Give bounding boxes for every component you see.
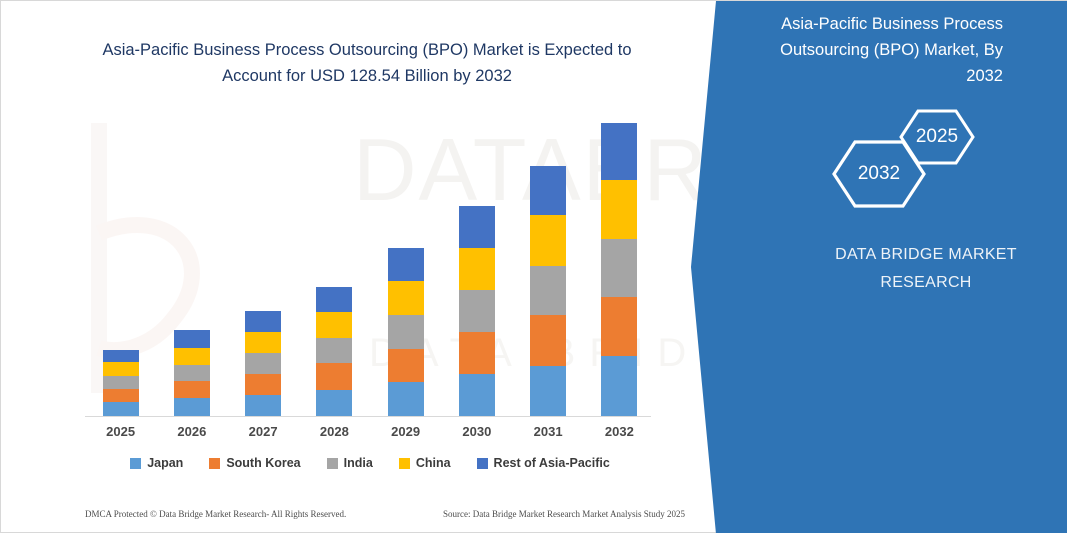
bar-segment: [601, 123, 637, 181]
bar-segment: [174, 381, 210, 398]
footer-copyright: DMCA Protected © Data Bridge Market Rese…: [85, 509, 346, 519]
bar-segment: [388, 315, 424, 349]
hexagon-badge-2025: 2025: [898, 108, 976, 166]
bar-stack-2028: [316, 287, 352, 416]
hexagon-2025-label: 2025: [916, 126, 958, 148]
bar-chart-plot-area: [85, 111, 655, 416]
legend-swatch-icon: [130, 458, 141, 469]
bar-column: [588, 111, 650, 416]
bar-segment: [174, 365, 210, 382]
bar-column: [232, 111, 294, 416]
bar-column: [161, 111, 223, 416]
bar-segment: [530, 315, 566, 365]
bar-segment: [459, 374, 495, 416]
bar-segment: [316, 312, 352, 338]
legend-swatch-icon: [399, 458, 410, 469]
legend-item[interactable]: India: [327, 456, 373, 470]
bar-segment: [103, 376, 139, 389]
bar-column: [446, 111, 508, 416]
bar-segment: [245, 395, 281, 416]
hexagon-2032-label: 2032: [858, 163, 900, 185]
legend-label: China: [416, 456, 451, 470]
bar-stack-2031: [530, 166, 566, 416]
bar-stack-2026: [174, 330, 210, 416]
legend-label: India: [344, 456, 373, 470]
x-axis-label-2032: 2032: [588, 424, 650, 439]
x-axis-label-2029: 2029: [375, 424, 437, 439]
bar-segment: [601, 180, 637, 239]
legend-item[interactable]: Japan: [130, 456, 183, 470]
bar-segment: [530, 266, 566, 315]
footer: DMCA Protected © Data Bridge Market Rese…: [85, 509, 685, 519]
x-axis-line: [85, 416, 651, 417]
bar-segment: [174, 398, 210, 416]
legend-item[interactable]: South Korea: [209, 456, 300, 470]
bar-segment: [530, 215, 566, 265]
legend-item[interactable]: China: [399, 456, 451, 470]
bar-column: [517, 111, 579, 416]
bar-segment: [103, 389, 139, 403]
x-axis-label-2030: 2030: [446, 424, 508, 439]
bar-segment: [459, 206, 495, 248]
bar-segment: [388, 349, 424, 383]
x-axis-label-2031: 2031: [517, 424, 579, 439]
bar-segment: [316, 338, 352, 363]
bar-segment: [388, 382, 424, 416]
legend-swatch-icon: [327, 458, 338, 469]
bar-segment: [245, 353, 281, 374]
bar-segment: [601, 239, 637, 297]
legend-swatch-icon: [209, 458, 220, 469]
bar-column: [303, 111, 365, 416]
legend-label: Rest of Asia-Pacific: [494, 456, 610, 470]
x-axis-labels: 20252026202720282029203020312032: [85, 424, 655, 439]
bar-segment: [103, 350, 139, 363]
bar-segment: [245, 311, 281, 332]
bar-segment: [459, 332, 495, 374]
bar-segment: [174, 348, 210, 365]
bar-segment: [103, 402, 139, 416]
bar-segment: [316, 390, 352, 416]
bar-segment: [388, 281, 424, 315]
bar-segment: [459, 290, 495, 332]
infographic-root: DATABRIDGE DATA BRIDGE RESEARCH Asia-Pac…: [0, 0, 1067, 533]
bar-segment: [103, 362, 139, 376]
panel-title: Asia-Pacific Business Process Outsourcin…: [753, 11, 1003, 89]
bar-segment: [316, 363, 352, 389]
legend-item[interactable]: Rest of Asia-Pacific: [477, 456, 610, 470]
bar-segment: [245, 374, 281, 395]
x-axis-label-2027: 2027: [232, 424, 294, 439]
bar-segment: [601, 297, 637, 356]
bar-stack-2030: [459, 206, 495, 416]
brand-name: DATA BRIDGE MARKET RESEARCH: [801, 241, 1051, 297]
bar-segment: [530, 366, 566, 416]
legend-swatch-icon: [477, 458, 488, 469]
bar-segment: [316, 287, 352, 312]
bar-stack-2027: [245, 311, 281, 416]
x-axis-label-2026: 2026: [161, 424, 223, 439]
chart-title: Asia-Pacific Business Process Outsourcin…: [97, 37, 637, 89]
bar-segment: [601, 356, 637, 416]
x-axis-label-2025: 2025: [90, 424, 152, 439]
bar-segment: [245, 332, 281, 353]
chart-legend: JapanSouth KoreaIndiaChinaRest of Asia-P…: [85, 456, 655, 470]
footer-source: Source: Data Bridge Market Research Mark…: [443, 509, 685, 519]
bar-column: [90, 111, 152, 416]
bar-segment: [530, 166, 566, 215]
bar-segment: [388, 248, 424, 282]
bar-segment: [174, 330, 210, 348]
bar-stack-2032: [601, 123, 637, 416]
bar-stack-2029: [388, 248, 424, 416]
legend-label: Japan: [147, 456, 183, 470]
legend-label: South Korea: [226, 456, 300, 470]
x-axis-label-2028: 2028: [303, 424, 365, 439]
bar-column: [375, 111, 437, 416]
bar-segment: [459, 248, 495, 290]
bar-stack-2025: [103, 350, 139, 416]
